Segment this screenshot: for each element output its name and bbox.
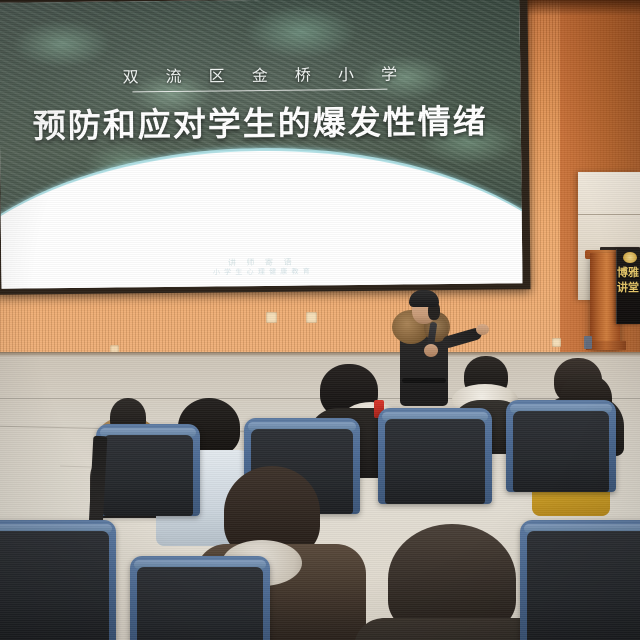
seat-f1	[0, 520, 116, 640]
seat-m3	[378, 408, 492, 504]
wall-outlet-1	[266, 312, 277, 323]
wall-outlet-2	[306, 312, 317, 323]
seat-pad	[513, 411, 609, 492]
mic-stand-icon	[584, 336, 592, 349]
gold-seal-emblem-icon	[623, 252, 637, 263]
presenter-mic-hand	[424, 344, 438, 357]
wall-outlet-3	[552, 338, 561, 347]
seat-pad	[385, 419, 485, 504]
presenter-hand	[476, 324, 489, 335]
lectern-base	[586, 341, 626, 350]
seat-pad	[137, 567, 263, 640]
projection-screen: 双 流 区 金 桥 小 学 预防和应对学生的爆发性情绪 讲 师 寄 语 小 学 …	[0, 0, 522, 289]
presenter-belt	[402, 378, 446, 383]
cabinet-seam	[578, 214, 640, 215]
floor-wall-junction	[0, 352, 640, 357]
seat-pad	[0, 531, 109, 640]
lecture-hall-sign-text: 博雅讲堂	[616, 266, 640, 295]
seat-f3	[520, 520, 640, 640]
seat-m4	[506, 400, 616, 492]
presenter-beanie	[409, 290, 439, 307]
seat-m1	[96, 424, 200, 516]
seat-f2	[130, 556, 270, 640]
slide-title: 预防和应对学生的爆发性情绪	[0, 94, 521, 147]
projection-screen-frame: 双 流 区 金 桥 小 学 预防和应对学生的爆发性情绪 讲 师 寄 语 小 学 …	[0, 0, 531, 295]
lecture-hall-photo: 双 流 区 金 桥 小 学 预防和应对学生的爆发性情绪 讲 师 寄 语 小 学 …	[0, 0, 640, 640]
seat-pad	[527, 531, 640, 640]
seat-pad	[103, 435, 193, 516]
